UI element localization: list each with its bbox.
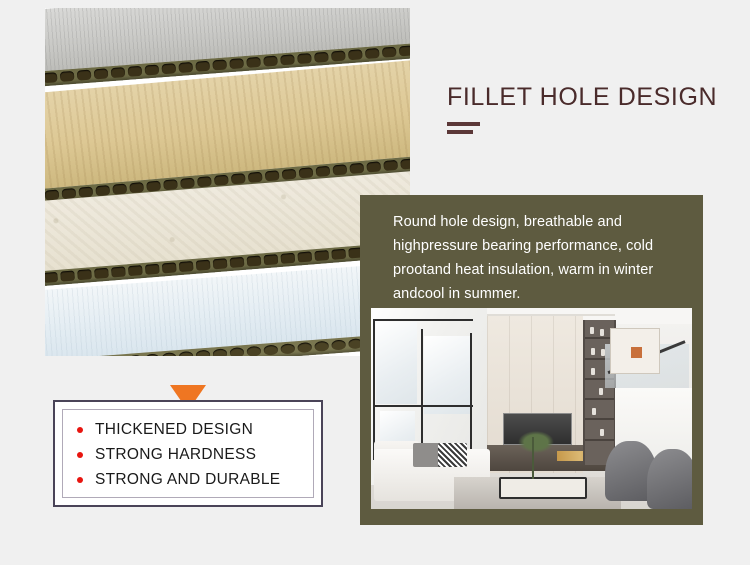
interior-room-photo (371, 308, 692, 509)
list-item: STRONG AND DURABLE (77, 471, 313, 489)
page-title: FILLET HOLE DESIGN (447, 83, 737, 112)
bullet-icon (77, 452, 83, 458)
info-panel: Round hole design, breathable and highpr… (360, 195, 703, 525)
heading-block: FILLET HOLE DESIGN (447, 83, 737, 138)
rule-short (447, 130, 473, 134)
armchair-right (647, 449, 692, 509)
bullet-icon (77, 477, 83, 483)
feature-label: STRONG AND DURABLE (95, 471, 280, 489)
pillow-plain (413, 443, 442, 467)
feature-label: THICKENED DESIGN (95, 421, 253, 439)
product-photo (45, 8, 410, 356)
rule-long (447, 122, 480, 126)
coffee-table (499, 477, 586, 499)
potted-plant-stem (532, 437, 534, 479)
list-item: THICKENED DESIGN (77, 421, 313, 439)
pillow-patterned (438, 443, 467, 467)
feature-list-box: THICKENED DESIGN STRONG HARDNESS STRONG … (53, 400, 323, 507)
bullet-icon (77, 427, 83, 433)
potted-plant-leaves (515, 429, 557, 455)
wall-artwork (610, 328, 660, 374)
info-description: Round hole design, breathable and highpr… (360, 195, 703, 306)
title-underline-rules (447, 122, 737, 134)
feature-label: STRONG HARDNESS (95, 446, 256, 464)
list-item: STRONG HARDNESS (77, 446, 313, 464)
